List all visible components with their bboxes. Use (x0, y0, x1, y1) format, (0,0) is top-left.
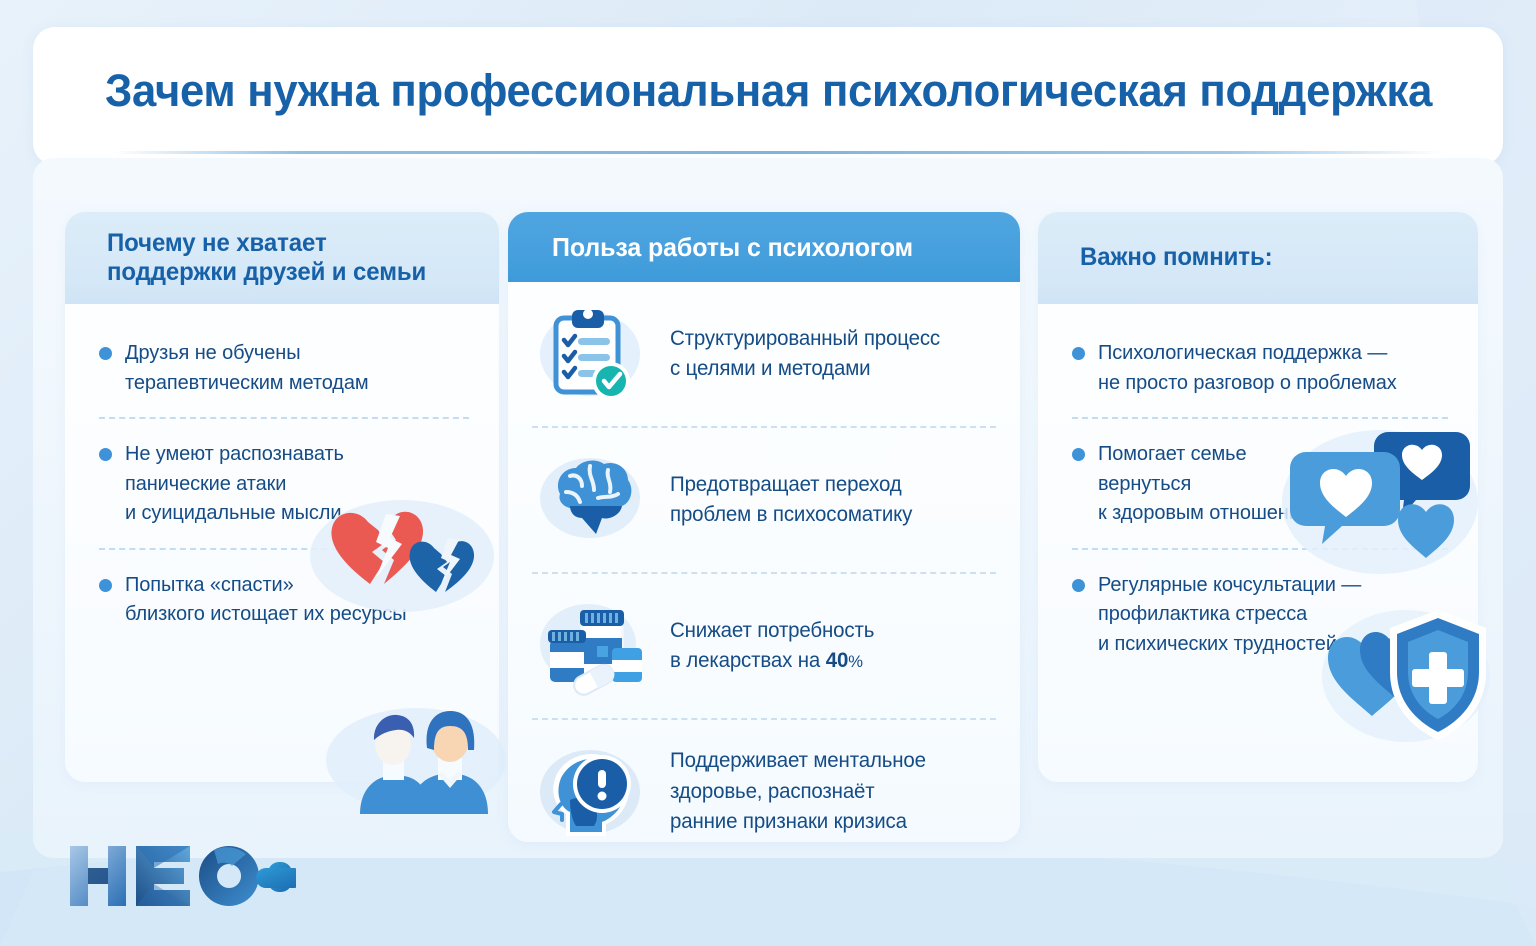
column-important-to-remember: Важно помнить: Психологическая поддержка… (1038, 212, 1478, 782)
clipboard-checklist-icon (536, 302, 648, 406)
list-item-text: Предотвращает переход проблем в психосом… (670, 470, 912, 531)
column-left-header: Почему не хватает поддержки друзей и сем… (65, 212, 499, 304)
left-bullet-list: Друзья не обучены терапевтическим метода… (65, 304, 499, 629)
list-item: Предотвращает переход проблем в психосом… (508, 428, 1020, 572)
separator (99, 417, 469, 419)
text-line: здоровье, распознаёт (670, 780, 875, 803)
heading-line-2: поддержки друзей и семьи (107, 258, 426, 288)
column-right-header: Важно помнить: (1038, 212, 1478, 304)
bullet-dot-icon (99, 579, 112, 592)
bullet-dot-icon (1072, 347, 1085, 360)
list-item: Снижает потребность в лекарствах на 40% (508, 574, 1020, 718)
text-line: проблем в психосоматику (670, 503, 912, 526)
neo-plus-logo (66, 840, 296, 912)
list-item: Регулярные кочсультации — профилактика с… (1072, 570, 1452, 659)
column-benefits-of-psychologist: Польза работы с психологом (508, 212, 1020, 842)
bullet-dot-icon (99, 448, 112, 461)
brain-icon (536, 448, 648, 552)
page-title: Зачем нужна профессиональная психологиче… (105, 65, 1405, 117)
list-item: Поддерживает ментальное здоровье, распоз… (508, 720, 1020, 842)
text-line: с целями и методами (670, 357, 870, 380)
medication-bottles-icon (536, 594, 648, 698)
text-line: и психических трудностей (1098, 632, 1337, 655)
separator (1072, 548, 1448, 550)
list-item-text: Регулярные кочсультации — профилактика с… (1098, 570, 1361, 659)
list-item-text: Помогает семье вернуться к здоровым отно… (1098, 439, 1324, 528)
title-underline-rule (113, 151, 1443, 154)
text-line: Не умеют распознавать (125, 442, 344, 465)
text-line: Попытка «спасти» (125, 573, 294, 596)
text-line: Снижает потребность (670, 619, 874, 642)
list-item: Помогает семье вернуться к здоровым отно… (1072, 439, 1452, 528)
column-right-heading: Важно помнить: (1080, 243, 1273, 273)
text-line: Структурированный процесс (670, 327, 940, 350)
bullet-dot-icon (1072, 579, 1085, 592)
text-line: Предотвращает переход (670, 473, 902, 496)
percent-value: 40 (826, 649, 848, 672)
list-item: Психологическая поддержка — не просто ра… (1072, 338, 1452, 397)
text-line: профилактика стресса (1098, 602, 1307, 625)
middle-benefit-list: Структурированный процесс с целями и мет… (508, 282, 1020, 842)
text-line: Регулярные кочсультации — (1098, 573, 1361, 596)
list-item-text: Снижает потребность в лекарствах на 40% (670, 616, 874, 677)
text-line: панические атаки (125, 472, 286, 495)
bullet-dot-icon (99, 347, 112, 360)
text-line: к здоровым отношениям (1098, 501, 1324, 524)
text-line: терапевтическим методам (125, 371, 369, 394)
list-item: Попытка «спасти» близкого истощает их ре… (99, 570, 473, 629)
column-why-friends-family-not-enough: Почему не хватает поддержки друзей и сем… (65, 212, 499, 782)
text-line: Друзья не обучены (125, 341, 300, 364)
text-line: и суицидальные мысли (125, 501, 341, 524)
list-item-text: Поддерживает ментальное здоровье, распоз… (670, 746, 926, 837)
text-line: не просто разговор о проблемах (1098, 371, 1397, 394)
text-line: Помогает семье (1098, 442, 1246, 465)
list-item: Не умеют распознавать панические атаки и… (99, 439, 473, 528)
list-item-text: Структурированный процесс с целями и мет… (670, 324, 940, 385)
text-line: близкого истощает их ресурсы (125, 602, 407, 625)
right-bullet-list: Психологическая поддержка — не просто ра… (1038, 304, 1478, 658)
text-line: вернуться (1098, 472, 1191, 495)
list-item: Структурированный процесс с целями и мет… (508, 282, 1020, 426)
percent-sign: % (848, 652, 863, 671)
list-item-text: Попытка «спасти» близкого истощает их ре… (125, 570, 407, 629)
list-item-text: Не умеют распознавать панические атаки и… (125, 439, 344, 528)
list-item-text: Друзья не обучены терапевтическим метода… (125, 338, 369, 397)
text-line: в лекарствах на (670, 649, 826, 672)
column-middle-header: Польза работы с психологом (508, 212, 1020, 282)
heading-line-1: Почему не хватает (107, 229, 426, 259)
separator (99, 548, 469, 550)
list-item-text: Психологическая поддержка — не просто ра… (1098, 338, 1397, 397)
text-line: ранние признаки кризиса (670, 810, 907, 833)
bullet-dot-icon (1072, 448, 1085, 461)
column-middle-heading: Польза работы с психологом (552, 232, 913, 263)
infographic-poster: Зачем нужна профессиональная психологиче… (0, 0, 1536, 946)
column-left-heading: Почему не хватает поддержки друзей и сем… (107, 229, 426, 288)
header-card: Зачем нужна профессиональная психологиче… (33, 27, 1503, 165)
text-line: Психологическая поддержка — (1098, 341, 1387, 364)
list-item: Друзья не обучены терапевтическим метода… (99, 338, 473, 397)
head-alert-icon (536, 740, 648, 842)
separator (1072, 417, 1448, 419)
text-line: Поддерживает ментальное (670, 749, 926, 772)
